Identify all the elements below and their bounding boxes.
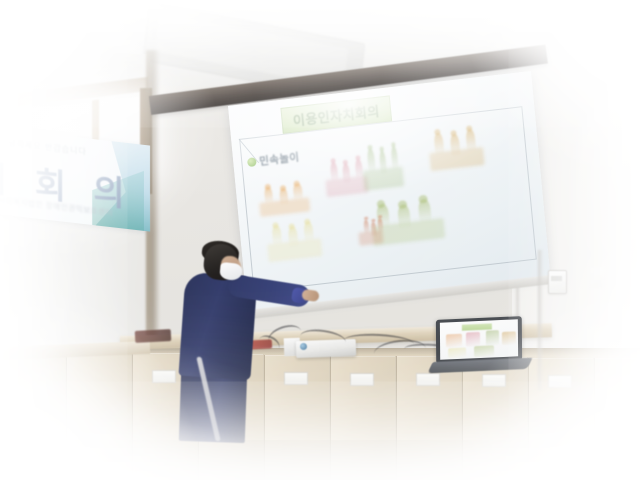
cabinet-label xyxy=(482,374,506,387)
illustration-figure xyxy=(330,162,339,183)
illustration-figure xyxy=(449,133,460,156)
slide-illustration-children-playing-group xyxy=(257,177,310,217)
wall-banner: 안녕하세요 반갑습니다 치 회 의 사회복지법인 장애인권익보호센터 xyxy=(0,126,150,231)
laptop-thumb xyxy=(474,345,494,357)
slide-illustration-spinning-top xyxy=(357,213,384,246)
cabinet-label xyxy=(350,373,374,386)
room-scene: 안녕하세요 반갑습니다 치 회 의 사회복지법인 장애인권익보호센터 이용인자치… xyxy=(0,0,640,480)
illustration-figure xyxy=(433,132,444,155)
laptop-thumb xyxy=(448,348,466,359)
photograph-root: 안녕하세요 반갑습니다 치 회 의 사회복지법인 장애인권익보호센터 이용인자치… xyxy=(0,0,640,480)
wall-outlet[interactable] xyxy=(548,270,567,294)
illustration-figure xyxy=(363,219,369,235)
laptop-display xyxy=(440,319,518,359)
illustration-figure xyxy=(367,149,376,174)
wall-outlet-slot xyxy=(551,276,562,281)
illustration-figure-head xyxy=(379,146,384,151)
door-edge xyxy=(538,250,543,390)
illustration-figure xyxy=(342,163,351,184)
illustration-figure xyxy=(379,150,388,175)
slide-illustration-two-people-running xyxy=(427,121,485,171)
wall-outlet-secondary[interactable] xyxy=(590,268,604,288)
laptop-thumb xyxy=(466,332,480,347)
cabinet-label xyxy=(548,375,572,388)
illustration-figure-head xyxy=(279,185,285,191)
laptop-thumb xyxy=(486,330,499,346)
laptop-thumb xyxy=(502,331,516,345)
illustration-figure-head xyxy=(367,145,372,150)
illustration-figure-head xyxy=(265,184,271,190)
slide-illustration-person-with-pole xyxy=(360,138,404,190)
illustration-figure xyxy=(465,128,476,151)
desk-object-left xyxy=(135,329,172,343)
cabinet-label xyxy=(152,370,176,383)
laptop-thumb xyxy=(446,334,462,348)
floor-shadow xyxy=(0,440,640,480)
illustration-figure xyxy=(371,221,377,237)
illustration-figure-head xyxy=(391,142,396,147)
laptop[interactable] xyxy=(428,318,532,376)
presenter xyxy=(176,236,316,436)
